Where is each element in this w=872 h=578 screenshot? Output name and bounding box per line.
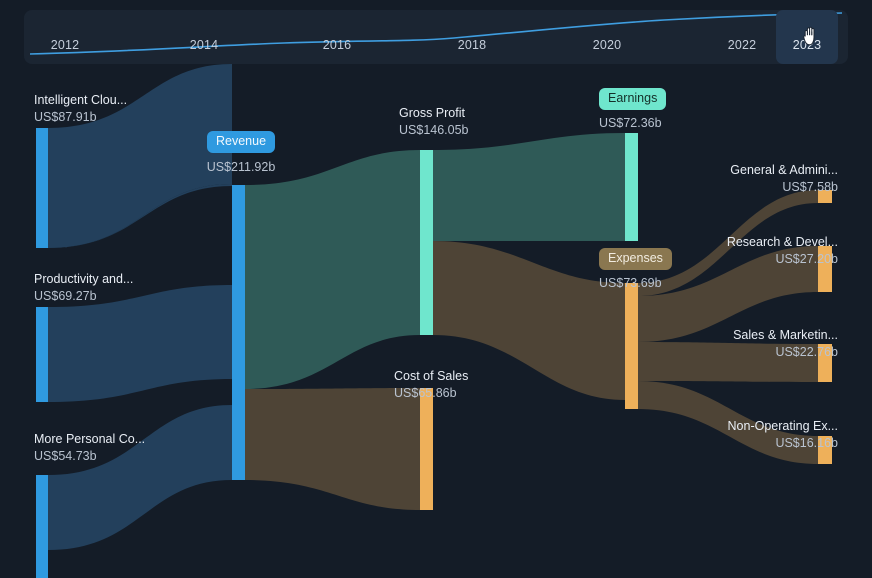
sankey-financials-screen: 2023 2012 2014 2016 2018 2020 2022 <box>0 0 872 578</box>
node-bar-intelligent-cloud[interactable] <box>36 128 48 248</box>
node-bar-productivity[interactable] <box>36 307 48 402</box>
node-value-intelligent-cloud: US$87.91b <box>34 109 127 126</box>
node-value-productivity: US$69.27b <box>34 288 133 305</box>
node-value-general-admin: US$7.58b <box>730 179 838 196</box>
node-label-research-dev: Research & Devel... US$27.20b <box>727 234 838 268</box>
node-bar-more-personal[interactable] <box>36 475 48 578</box>
slider-year-2022[interactable]: 2022 <box>728 38 757 52</box>
node-label-cost-of-sales: Cost of Sales US$65.86b <box>394 368 468 402</box>
node-label-productivity: Productivity and... US$69.27b <box>34 271 133 305</box>
node-label-sales-marketing: Sales & Marketin... US$22.76b <box>733 327 838 361</box>
sankey-diagram: Intelligent Clou... US$87.91b Productivi… <box>0 64 872 578</box>
node-value-earnings: US$72.36b <box>599 116 662 130</box>
flow-gross-profit-to-earnings[interactable] <box>433 133 625 241</box>
node-name-non-operating: Non-Operating Ex... <box>728 418 838 435</box>
slider-year-2020[interactable]: 2020 <box>593 38 622 52</box>
node-bar-cost-of-sales[interactable] <box>420 388 433 510</box>
node-value-cost-of-sales: US$65.86b <box>394 385 468 402</box>
slider-year-2018[interactable]: 2018 <box>458 38 487 52</box>
node-bar-expenses[interactable] <box>625 283 638 409</box>
node-value-gross-profit: US$146.05b <box>399 122 469 139</box>
flow-group-segments-to-revenue <box>48 64 232 550</box>
node-bar-earnings[interactable] <box>625 133 638 241</box>
node-label-intelligent-cloud: Intelligent Clou... US$87.91b <box>34 92 127 126</box>
node-value-more-personal: US$54.73b <box>34 448 145 465</box>
node-name-general-admin: General & Admini... <box>730 162 838 179</box>
node-pill-revenue[interactable]: Revenue <box>207 131 275 153</box>
node-pill-earnings[interactable]: Earnings <box>599 88 666 110</box>
node-value-research-dev: US$27.20b <box>727 251 838 268</box>
node-label-gross-profit: Gross Profit US$146.05b <box>399 105 469 139</box>
node-name-productivity: Productivity and... <box>34 271 133 288</box>
sankey-svg <box>0 64 872 578</box>
node-pill-expenses[interactable]: Expenses <box>599 248 672 270</box>
grab-hand-cursor <box>802 26 820 46</box>
node-bar-gross-profit[interactable] <box>420 150 433 335</box>
node-name-gross-profit: Gross Profit <box>399 105 469 122</box>
node-label-general-admin: General & Admini... US$7.58b <box>730 162 838 196</box>
node-label-non-operating: Non-Operating Ex... US$16.16b <box>728 418 838 452</box>
node-name-cost-of-sales: Cost of Sales <box>394 368 468 385</box>
node-value-non-operating: US$16.16b <box>728 435 838 452</box>
slider-year-2014[interactable]: 2014 <box>190 38 219 52</box>
slider-year-2012[interactable]: 2012 <box>51 38 80 52</box>
flow-revenue-to-cost-of-sales[interactable] <box>245 388 420 510</box>
node-label-more-personal: More Personal Co... US$54.73b <box>34 431 145 465</box>
slider-year-2016[interactable]: 2016 <box>323 38 352 52</box>
node-name-more-personal: More Personal Co... <box>34 431 145 448</box>
node-bar-revenue[interactable] <box>232 185 245 480</box>
node-name-intelligent-cloud: Intelligent Clou... <box>34 92 127 109</box>
timeline-trend-line <box>24 10 848 64</box>
node-value-revenue: US$211.92b <box>207 160 276 174</box>
flow-more-personal-to-revenue[interactable] <box>48 405 232 550</box>
node-value-expenses: US$73.69b <box>599 276 662 290</box>
node-name-research-dev: Research & Devel... <box>727 234 838 251</box>
node-value-sales-marketing: US$22.76b <box>733 344 838 361</box>
flow-revenue-to-gross-profit[interactable] <box>245 150 420 389</box>
node-name-sales-marketing: Sales & Marketin... <box>733 327 838 344</box>
year-range-slider[interactable]: 2023 2012 2014 2016 2018 2020 2022 <box>24 10 848 64</box>
